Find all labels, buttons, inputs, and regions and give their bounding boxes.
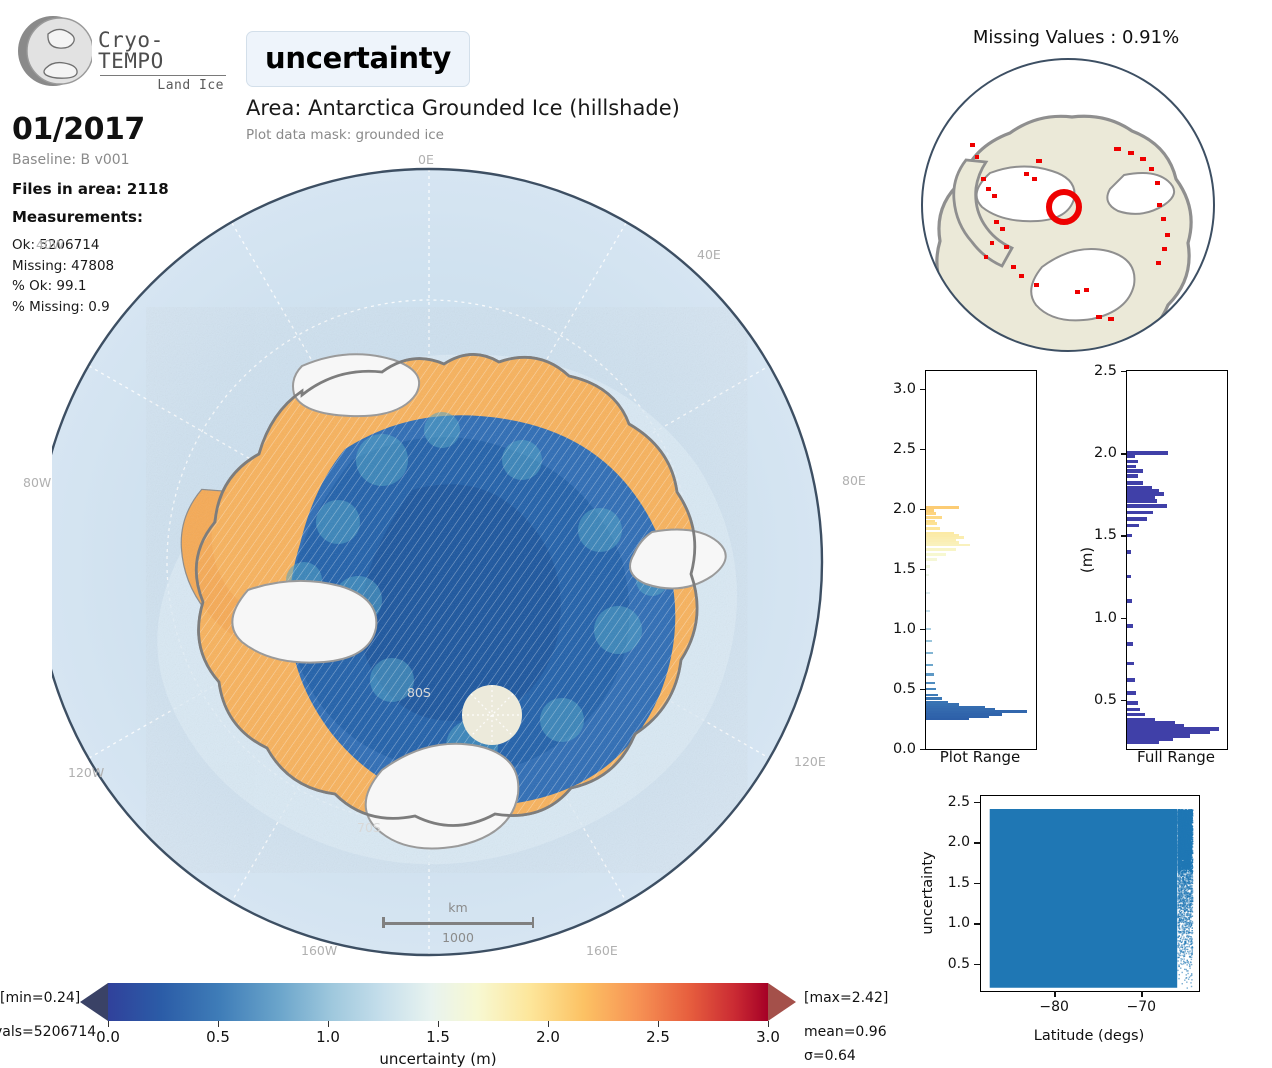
histogram-bar bbox=[926, 516, 942, 519]
colorbar-tick-label: 1.0 bbox=[316, 1028, 340, 1046]
histogram-bar bbox=[1127, 662, 1134, 666]
histogram-bar bbox=[1127, 492, 1164, 496]
histogram-bar bbox=[1127, 469, 1143, 473]
axis-tick-label: 1.0 bbox=[1073, 610, 1117, 626]
histogram-bar bbox=[1127, 550, 1131, 554]
scatter-x-tick bbox=[1054, 991, 1055, 997]
histogram-bar bbox=[926, 512, 936, 515]
histogram-bar bbox=[1127, 517, 1147, 521]
histogram-bar bbox=[1127, 451, 1168, 455]
histogram-bar bbox=[926, 713, 1002, 716]
lon-label-40w: 40W bbox=[36, 237, 64, 252]
histogram-bar bbox=[926, 610, 930, 613]
antarctica-uncertainty-map[interactable]: 0E 40E 80E 120E 160E 160W 120W 80W 40W 7… bbox=[52, 160, 872, 960]
lon-label-80w: 80W bbox=[23, 475, 51, 490]
histogram-bar bbox=[926, 652, 933, 655]
uncertainty-vs-latitude-scatter[interactable] bbox=[980, 795, 1200, 992]
scalebar-value: 1000 bbox=[382, 930, 534, 945]
plot-range-histogram[interactable]: 0.00.51.01.52.02.53.0 bbox=[925, 370, 1037, 750]
colorbar-tick-label: 2.5 bbox=[646, 1028, 670, 1046]
histogram-bar bbox=[926, 718, 969, 721]
full-range-y-label: (m) bbox=[1078, 547, 1096, 573]
axis-tick-label: 0.5 bbox=[1073, 692, 1117, 708]
axis-tick bbox=[920, 509, 925, 510]
colorbar-max-label: [max=2.42] bbox=[804, 990, 888, 1006]
logo-wordmark: Cryo-TEMPO Land Ice bbox=[98, 30, 228, 93]
map-canvas bbox=[52, 160, 872, 960]
histogram-bar bbox=[1127, 465, 1136, 469]
histogram-bar bbox=[1127, 701, 1138, 705]
axis-tick bbox=[920, 689, 925, 690]
histogram-bar bbox=[926, 710, 1027, 713]
axis-tick-label: 1.5 bbox=[1073, 527, 1117, 543]
histogram-bar bbox=[926, 703, 959, 706]
scatter-y-tick-label: 1.0 bbox=[926, 915, 970, 931]
axis-tick bbox=[1121, 535, 1126, 536]
axis-tick-label: 2.0 bbox=[872, 501, 916, 517]
colorbar-sigma-label: σ=0.64 bbox=[804, 1048, 856, 1064]
lon-label-160w: 160W bbox=[301, 943, 337, 958]
colorbar[interactable]: 0.00.51.01.52.02.53.0 [min=0.24] [max=2.… bbox=[0, 978, 900, 1060]
colorbar-tick-label: 0.0 bbox=[96, 1028, 120, 1046]
histogram-bar bbox=[926, 532, 954, 535]
histogram-bar bbox=[926, 715, 989, 718]
histogram-bar bbox=[1127, 534, 1132, 538]
colorbar-tick bbox=[328, 1021, 329, 1027]
colorbar-under-arrow bbox=[80, 983, 108, 1021]
axis-tick bbox=[920, 389, 925, 390]
axis-tick bbox=[1121, 618, 1126, 619]
histogram-bar bbox=[1127, 642, 1133, 646]
colorbar-tick-label: 3.0 bbox=[756, 1028, 780, 1046]
colorbar-tick bbox=[768, 1021, 769, 1027]
histogram-bar bbox=[1127, 504, 1167, 508]
axis-tick bbox=[920, 569, 925, 570]
histogram-bar bbox=[1127, 678, 1135, 682]
histogram-bar bbox=[926, 697, 942, 700]
missing-values-map[interactable] bbox=[918, 55, 1218, 355]
logo-divider bbox=[100, 75, 226, 76]
histogram-bar bbox=[926, 628, 931, 631]
scatter-points bbox=[981, 796, 1199, 991]
histogram-bar bbox=[926, 544, 970, 547]
histogram-bar bbox=[1127, 718, 1155, 722]
histogram-bar bbox=[1127, 489, 1159, 493]
colorbar-tick-label: 2.0 bbox=[536, 1028, 560, 1046]
histogram-bar bbox=[1127, 721, 1175, 725]
colorbar-mean-label: mean=0.96 bbox=[804, 1024, 887, 1040]
axis-tick bbox=[920, 449, 925, 450]
colorbar-tick bbox=[548, 1021, 549, 1027]
lon-label-0e: 0E bbox=[418, 152, 434, 167]
area-title: Area: Antarctica Grounded Ice (hillshade… bbox=[246, 96, 680, 120]
scatter-y-tick bbox=[974, 842, 980, 843]
histogram-bar bbox=[926, 527, 940, 530]
lon-label-160e: 160E bbox=[586, 943, 618, 958]
histogram-bar bbox=[1127, 741, 1159, 745]
axis-tick bbox=[1121, 700, 1126, 701]
map-scalebar: km 1000 bbox=[382, 900, 534, 945]
histogram-bar bbox=[926, 701, 948, 704]
histogram-bar bbox=[1127, 708, 1140, 712]
histogram-bar bbox=[926, 565, 930, 568]
globe-crescent-icon bbox=[14, 12, 92, 90]
scalebar-unit: km bbox=[382, 900, 534, 915]
histogram-bar bbox=[1127, 455, 1135, 459]
histogram-bar bbox=[926, 509, 934, 512]
histogram-bar bbox=[1127, 575, 1131, 579]
histogram-bar bbox=[1127, 734, 1190, 738]
histogram-bar bbox=[926, 640, 932, 643]
axis-tick-label: 1.0 bbox=[872, 621, 916, 637]
colorbar-axis-label: uncertainty (m) bbox=[108, 1050, 768, 1068]
histogram-bar bbox=[926, 558, 937, 561]
histogram-bar bbox=[1127, 599, 1132, 603]
histogram-bar bbox=[926, 673, 934, 676]
histogram-bar bbox=[1127, 624, 1133, 628]
histogram-bar bbox=[926, 574, 929, 577]
histogram-bar bbox=[1127, 691, 1136, 695]
colorbar-nvals-label: vals=5206714 bbox=[0, 1024, 96, 1040]
histogram-bar bbox=[926, 708, 995, 711]
histogram-bar bbox=[1127, 731, 1210, 735]
colorbar-tick-label: 0.5 bbox=[206, 1028, 230, 1046]
date-label: 01/2017 bbox=[12, 112, 145, 147]
colorbar-over-arrow bbox=[768, 983, 796, 1021]
scalebar-line bbox=[382, 917, 534, 928]
scatter-x-tick-label: −70 bbox=[1127, 999, 1157, 1015]
scatter-y-tick bbox=[974, 802, 980, 803]
histogram-bar bbox=[926, 541, 959, 544]
axis-tick-label: 0.5 bbox=[872, 681, 916, 697]
axis-tick bbox=[1121, 371, 1126, 372]
full-range-axis-label: Full Range bbox=[1096, 748, 1256, 766]
axis-tick-label: 2.0 bbox=[1073, 445, 1117, 461]
histogram-bar bbox=[926, 682, 935, 685]
histogram-bar bbox=[926, 522, 937, 525]
colorbar-tick bbox=[658, 1021, 659, 1027]
scatter-x-tick bbox=[1141, 991, 1142, 997]
colorbar-min-label: [min=0.24] bbox=[0, 990, 76, 1006]
scatter-x-label: Latitude (degs) bbox=[980, 1028, 1198, 1044]
logo-subtitle: Land Ice bbox=[98, 78, 224, 93]
lon-label-40e: 40E bbox=[697, 247, 721, 262]
axis-tick-label: 3.0 bbox=[872, 381, 916, 397]
axis-tick-label: 2.5 bbox=[872, 441, 916, 457]
histogram-bar bbox=[1127, 474, 1138, 478]
histogram-bar bbox=[1127, 496, 1155, 500]
cryo-tempo-logo bbox=[14, 12, 92, 90]
histogram-bar bbox=[926, 534, 959, 537]
scatter-y-tick-label: 0.5 bbox=[926, 956, 970, 972]
axis-tick bbox=[1121, 453, 1126, 454]
histogram-bar bbox=[926, 506, 959, 509]
axis-tick-label: 2.5 bbox=[1073, 363, 1117, 379]
histogram-bar bbox=[926, 553, 946, 556]
variable-badge-label: uncertainty bbox=[265, 41, 451, 75]
histogram-bar bbox=[926, 706, 985, 709]
lon-label-120e: 120E bbox=[794, 754, 826, 769]
colorbar-tick-label: 1.5 bbox=[426, 1028, 450, 1046]
histogram-bar bbox=[1127, 713, 1145, 717]
scatter-y-tick-label: 2.0 bbox=[926, 834, 970, 850]
colorbar-tick bbox=[438, 1021, 439, 1027]
full-range-histogram[interactable]: 0.51.01.52.02.5 bbox=[1126, 370, 1228, 750]
histogram-bar bbox=[926, 539, 956, 542]
histogram-bar bbox=[926, 694, 938, 697]
histogram-bar bbox=[926, 592, 930, 595]
plot-range-axis-label: Plot Range bbox=[900, 748, 1060, 766]
histogram-bar bbox=[1127, 727, 1219, 731]
scatter-y-tick-label: 2.5 bbox=[926, 794, 970, 810]
histogram-bar bbox=[926, 664, 933, 667]
variable-badge: uncertainty bbox=[246, 31, 470, 87]
axis-tick bbox=[920, 629, 925, 630]
histogram-bar bbox=[926, 536, 964, 539]
histogram-bar bbox=[1127, 524, 1139, 528]
lat-label-80s: 80S bbox=[407, 685, 431, 700]
histogram-bar bbox=[1127, 481, 1143, 485]
histogram-bar bbox=[1127, 460, 1138, 464]
histogram-bar bbox=[1127, 499, 1157, 503]
area-subtitle: Plot data mask: grounded ice bbox=[246, 127, 444, 143]
logo-title: Cryo-TEMPO bbox=[98, 30, 228, 72]
missing-values-canvas bbox=[918, 55, 1218, 355]
pole-hole bbox=[462, 685, 522, 745]
histogram-bar bbox=[1127, 724, 1184, 728]
lon-label-80e: 80E bbox=[842, 473, 866, 488]
histogram-bar bbox=[1127, 486, 1152, 490]
axis-tick-label: 1.5 bbox=[872, 561, 916, 577]
histogram-bar bbox=[1127, 737, 1173, 741]
histogram-bar bbox=[926, 688, 936, 691]
histogram-bar bbox=[1127, 511, 1153, 515]
colorbar-tick bbox=[218, 1021, 219, 1027]
lat-label-70s: 70S bbox=[357, 820, 381, 835]
colorbar-tick bbox=[108, 1021, 109, 1027]
scatter-y-tick bbox=[974, 923, 980, 924]
colorbar-gradient[interactable] bbox=[108, 983, 768, 1021]
lon-label-120w: 120W bbox=[68, 765, 104, 780]
scatter-y-tick-label: 1.5 bbox=[926, 875, 970, 891]
missing-values-title: Missing Values : 0.91% bbox=[880, 27, 1272, 48]
scatter-x-tick-label: −80 bbox=[1039, 999, 1069, 1015]
histogram-bar bbox=[926, 520, 935, 523]
scatter-y-tick bbox=[974, 883, 980, 884]
scatter-y-tick bbox=[974, 964, 980, 965]
histogram-bar bbox=[926, 548, 956, 551]
